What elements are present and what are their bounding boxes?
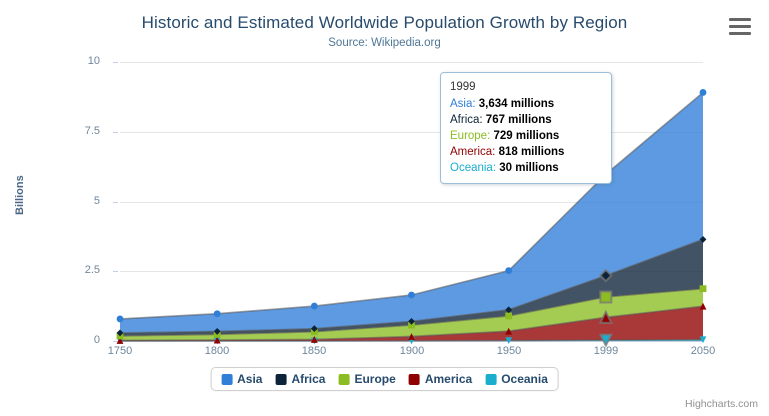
chart-container: Historic and Estimated Worldwide Populat… bbox=[0, 0, 769, 416]
legend-label: America bbox=[425, 372, 472, 386]
legend-swatch-icon bbox=[338, 374, 349, 385]
tooltip-series-value: 767 millions bbox=[486, 114, 552, 126]
legend-label: Africa bbox=[291, 372, 325, 386]
legend-swatch-icon bbox=[221, 374, 232, 385]
tooltip: 1999 Asia: 3,634 millionsAfrica: 767 mil… bbox=[440, 72, 612, 184]
tooltip-series-name: Oceania: bbox=[450, 162, 499, 174]
legend-swatch-icon bbox=[275, 374, 286, 385]
credit-label: Highcharts.com bbox=[685, 398, 758, 410]
legend-label: Europe bbox=[354, 372, 395, 386]
tooltip-row: Asia: 3,634 millions bbox=[450, 96, 602, 112]
tooltip-series-value: 818 millions bbox=[499, 146, 565, 158]
tooltip-series-name: America: bbox=[450, 146, 499, 158]
legend-item-america[interactable]: America bbox=[409, 372, 472, 386]
marker-europe[interactable] bbox=[505, 313, 512, 320]
legend: AsiaAfricaEuropeAmericaOceania bbox=[210, 367, 559, 391]
tooltip-series-value: 30 millions bbox=[499, 162, 558, 174]
tooltip-series-value: 729 millions bbox=[493, 130, 559, 142]
tooltip-series-name: Europe: bbox=[450, 130, 493, 142]
marker-europe[interactable] bbox=[700, 285, 707, 292]
tooltip-row: America: 818 millions bbox=[450, 144, 602, 160]
tooltip-series-name: Asia: bbox=[450, 98, 479, 110]
legend-swatch-icon bbox=[409, 374, 420, 385]
marker-asia[interactable] bbox=[408, 292, 415, 299]
marker-asia[interactable] bbox=[117, 316, 124, 323]
legend-label: Oceania bbox=[501, 372, 548, 386]
tooltip-year: 1999 bbox=[450, 79, 602, 95]
marker-asia[interactable] bbox=[311, 303, 318, 310]
legend-swatch-icon bbox=[485, 374, 496, 385]
legend-item-oceania[interactable]: Oceania bbox=[485, 372, 548, 386]
tooltip-row: Oceania: 30 millions bbox=[450, 160, 602, 176]
legend-item-asia[interactable]: Asia bbox=[221, 372, 262, 386]
tooltip-series-value: 3,634 millions bbox=[479, 98, 554, 110]
marker-asia[interactable] bbox=[700, 89, 707, 96]
tooltip-row: Africa: 767 millions bbox=[450, 112, 602, 128]
legend-label: Asia bbox=[237, 372, 262, 386]
marker-asia[interactable] bbox=[505, 267, 512, 274]
series-layer bbox=[0, 0, 769, 416]
legend-item-europe[interactable]: Europe bbox=[338, 372, 395, 386]
tooltip-rows: Asia: 3,634 millionsAfrica: 767 millions… bbox=[450, 96, 602, 176]
legend-item-africa[interactable]: Africa bbox=[275, 372, 325, 386]
tooltip-series-name: Africa: bbox=[450, 114, 486, 126]
marker-asia[interactable] bbox=[214, 310, 221, 317]
tooltip-row: Europe: 729 millions bbox=[450, 128, 602, 144]
